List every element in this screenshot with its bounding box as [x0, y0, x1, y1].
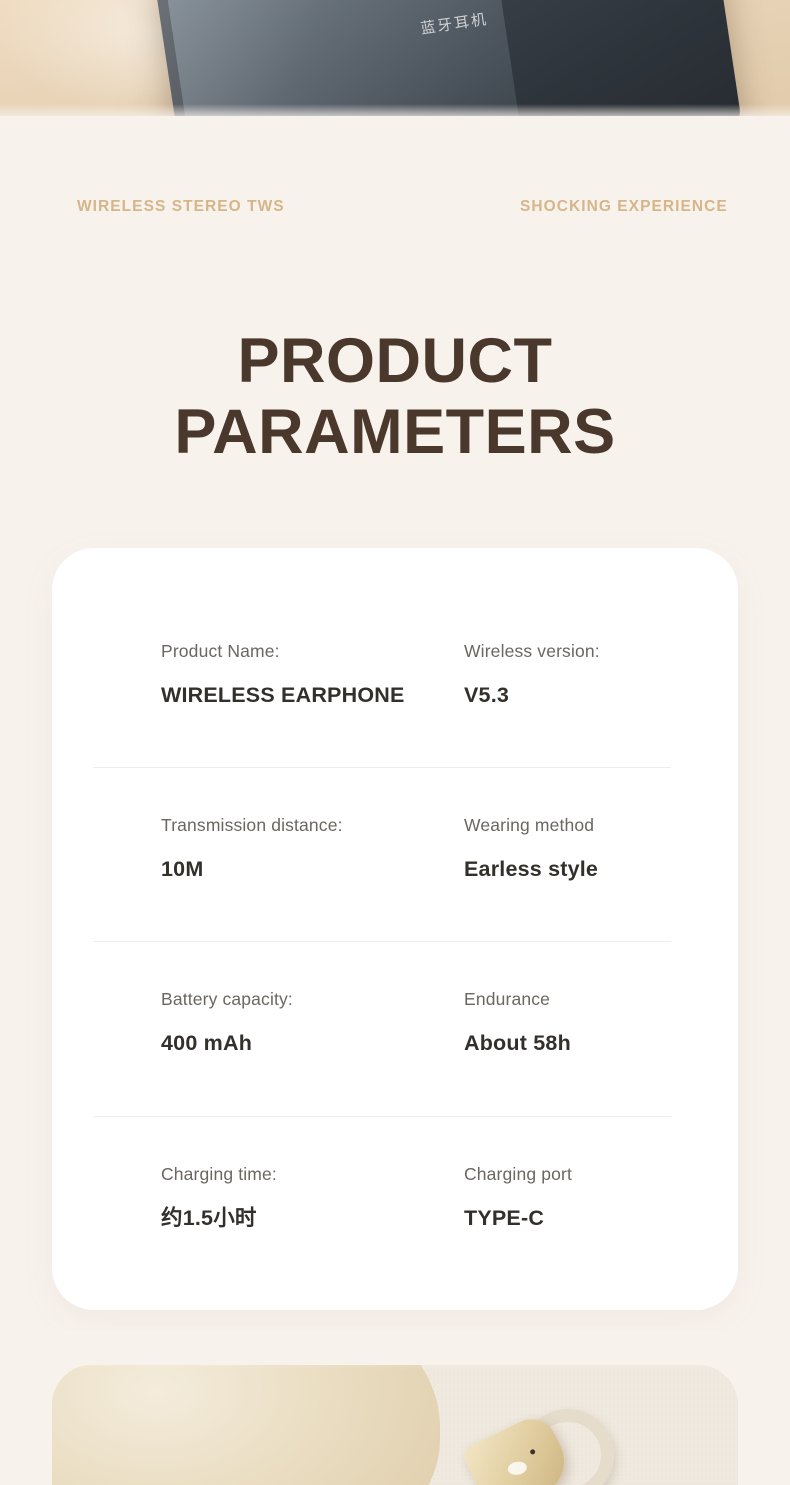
spec-label: Wireless version:	[464, 640, 600, 662]
spec-value: TYPE-C	[464, 1205, 572, 1231]
earbud-highlight	[507, 1460, 528, 1476]
spec-cell: Endurance About 58h	[464, 988, 571, 1056]
spec-value: 10M	[161, 856, 343, 882]
page-title: PRODUCT PARAMETERS	[0, 326, 790, 468]
spec-label: Charging port	[464, 1163, 572, 1185]
bottom-product-photo	[52, 1365, 738, 1485]
spec-value: 400 mAh	[161, 1030, 293, 1056]
spec-label: Charging time:	[161, 1163, 277, 1185]
top-photo-fade	[0, 104, 790, 126]
spec-label: Wearing method	[464, 814, 598, 836]
spec-label: Battery capacity:	[161, 988, 293, 1010]
spec-value: WIRELESS EARPHONE	[161, 682, 405, 708]
spec-divider	[93, 767, 671, 768]
tagline-left: WIRELESS STEREO TWS	[77, 198, 285, 216]
spec-value: V5.3	[464, 682, 600, 708]
earbud-microphone-dot	[529, 1449, 536, 1456]
photo-vase-object	[52, 1365, 440, 1485]
spec-cell: Battery capacity: 400 mAh	[161, 988, 293, 1056]
spec-divider	[93, 941, 671, 942]
spec-label: Product Name:	[161, 640, 405, 662]
page-title-line-1: PRODUCT	[0, 326, 790, 397]
spec-cell: Wireless version: V5.3	[464, 640, 600, 708]
tagline-row: WIRELESS STEREO TWS SHOCKING EXPERIENCE	[0, 198, 790, 222]
spec-value: 约1.5小时	[161, 1205, 277, 1231]
top-product-photo: 蓝牙耳机	[0, 0, 790, 116]
page-title-line-2: PARAMETERS	[0, 397, 790, 468]
spec-cell: Product Name: WIRELESS EARPHONE	[161, 640, 405, 708]
bottom-photo-fade	[0, 1330, 790, 1370]
specification-card: Product Name: WIRELESS EARPHONE Wireless…	[52, 548, 738, 1310]
spec-cell: Charging time: 约1.5小时	[161, 1163, 277, 1231]
spec-cell: Charging port TYPE-C	[464, 1163, 572, 1231]
spec-cell: Transmission distance: 10M	[161, 814, 343, 882]
spec-label: Endurance	[464, 988, 571, 1010]
spec-divider	[93, 1116, 671, 1117]
spec-value: About 58h	[464, 1030, 571, 1056]
spec-label: Transmission distance:	[161, 814, 343, 836]
spec-value: Earless style	[464, 856, 598, 882]
spec-cell: Wearing method Earless style	[464, 814, 598, 882]
tagline-right: SHOCKING EXPERIENCE	[520, 198, 728, 216]
